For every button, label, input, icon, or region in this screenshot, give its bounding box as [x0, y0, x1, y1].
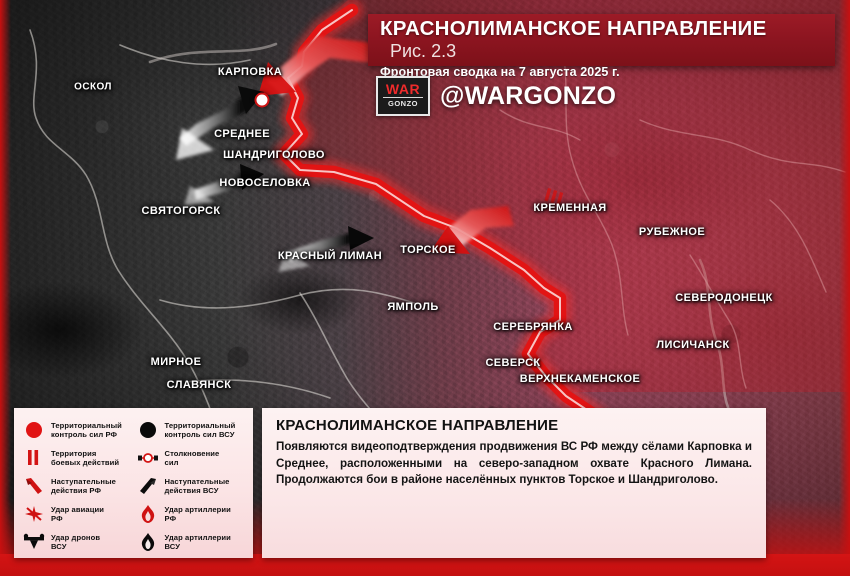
clash-marker-icon: [255, 93, 270, 108]
legend-panel: Территориальныйконтроль сил РФТерриториа…: [14, 408, 253, 558]
city-label: ЛИСИЧАНСК: [656, 339, 729, 351]
legend-item-label: Удар дроновВСУ: [51, 533, 100, 552]
city-label: НОВОСЕЛОВКА: [219, 177, 310, 189]
city-label: ОСКОЛ: [74, 82, 112, 93]
red-arrow-icon: [22, 475, 46, 497]
legend-item-label: Столкновениесил: [165, 449, 220, 468]
logo-word-war: WAR: [386, 83, 420, 96]
city-label: СЕВЕРОДОНЕЦК: [675, 292, 772, 304]
legend-item: Территориальныйконтроль сил ВСУ: [136, 416, 248, 444]
black-artillery-icon: [136, 531, 160, 553]
red-circle-icon: [22, 419, 46, 441]
legend-item: Наступательныедействия ВСУ: [136, 472, 248, 500]
legend-item-label: Территориальныйконтроль сил РФ: [51, 421, 122, 440]
logo-word-gonzo: GONZO: [383, 97, 423, 109]
city-label: КРАСНЫЙ ЛИМАН: [278, 250, 382, 262]
description-title: КРАСНОЛИМАНСКОЕ НАПРАВЛЕНИЕ: [276, 417, 752, 434]
header-banner: КРАСНОЛИМАНСКОЕ НАПРАВЛЕНИЕРис. 2.3 Фрон…: [368, 14, 835, 66]
legend-item: Удар авиацииРФ: [22, 500, 134, 528]
city-label: КРЕМЕННАЯ: [533, 202, 606, 214]
city-label: СРЕДНЕЕ: [214, 128, 270, 140]
city-label: МИРНОЕ: [151, 356, 202, 368]
legend-item-label: Удар артиллерииРФ: [165, 505, 231, 524]
red-aircraft-strike-icon: [22, 503, 46, 525]
black-arrow-icon: [136, 475, 160, 497]
legend-item: Удар артиллерииРФ: [136, 500, 248, 528]
infographic-map-image: ОСКОЛКАРПОВКАСРЕДНЕЕШАНДРИГОЛОВОНОВОСЕЛО…: [0, 0, 850, 576]
city-label: КАРПОВКА: [218, 66, 282, 78]
vsu-offensive-arrow-krasny-liman: [278, 226, 374, 272]
left-red-edge: [0, 0, 11, 576]
legend-item: Столкновениесил: [136, 444, 248, 472]
city-label: ШАНДРИГОЛОВО: [223, 149, 325, 161]
wargonzo-logo-icon: WAR GONZO: [376, 76, 430, 116]
black-drone-icon: [22, 531, 46, 553]
legend-item: Территориальныйконтроль сил РФ: [22, 416, 134, 444]
city-label: СЕВЕРСК: [485, 357, 540, 369]
legend-item: Наступательныедействия РФ: [22, 472, 134, 500]
city-label: ВЕРХНЕКАМЕНСКОЕ: [520, 373, 640, 385]
legend-item: Территориябоевых действий: [22, 444, 134, 472]
legend-item: Удар дроновВСУ: [22, 528, 134, 556]
legend-item-label: Территориябоевых действий: [51, 449, 119, 468]
city-label: СВЯТОГОРСК: [142, 205, 221, 217]
legend-item-label: Территориальныйконтроль сил ВСУ: [165, 421, 236, 440]
legend-item-label: Удар артиллерииВСУ: [165, 533, 231, 552]
wargonzo-brand[interactable]: WAR GONZO @WARGONZO: [376, 76, 616, 116]
page-title: КРАСНОЛИМАНСКОЕ НАПРАВЛЕНИЕ: [380, 18, 767, 40]
city-label: ЯМПОЛЬ: [387, 301, 438, 313]
figure-number: Рис. 2.3: [390, 40, 456, 62]
legend-item-label: Наступательныедействия ВСУ: [165, 477, 230, 496]
legend-item-label: Удар авиацииРФ: [51, 505, 104, 524]
wargonzo-handle: @WARGONZO: [440, 82, 616, 111]
red-artillery-icon: [136, 503, 160, 525]
black-circle-icon: [136, 419, 160, 441]
description-body: Появляются видеоподтверждения продвижени…: [276, 439, 752, 489]
city-label: СЛАВЯНСК: [167, 379, 232, 391]
city-label: СЕРЕБРЯНКА: [493, 321, 572, 333]
city-label: ТОРСКОЕ: [400, 244, 455, 256]
clash-marker-icon: [136, 447, 160, 469]
red-hatch-icon: [22, 447, 46, 469]
right-red-edge: [839, 0, 850, 576]
city-label: РУБЕЖНОЕ: [639, 226, 705, 238]
legend-item-label: Наступательныедействия РФ: [51, 477, 116, 496]
description-panel: КРАСНОЛИМАНСКОЕ НАПРАВЛЕНИЕ Появляются в…: [262, 408, 766, 558]
legend-item: Удар артиллерииВСУ: [136, 528, 248, 556]
